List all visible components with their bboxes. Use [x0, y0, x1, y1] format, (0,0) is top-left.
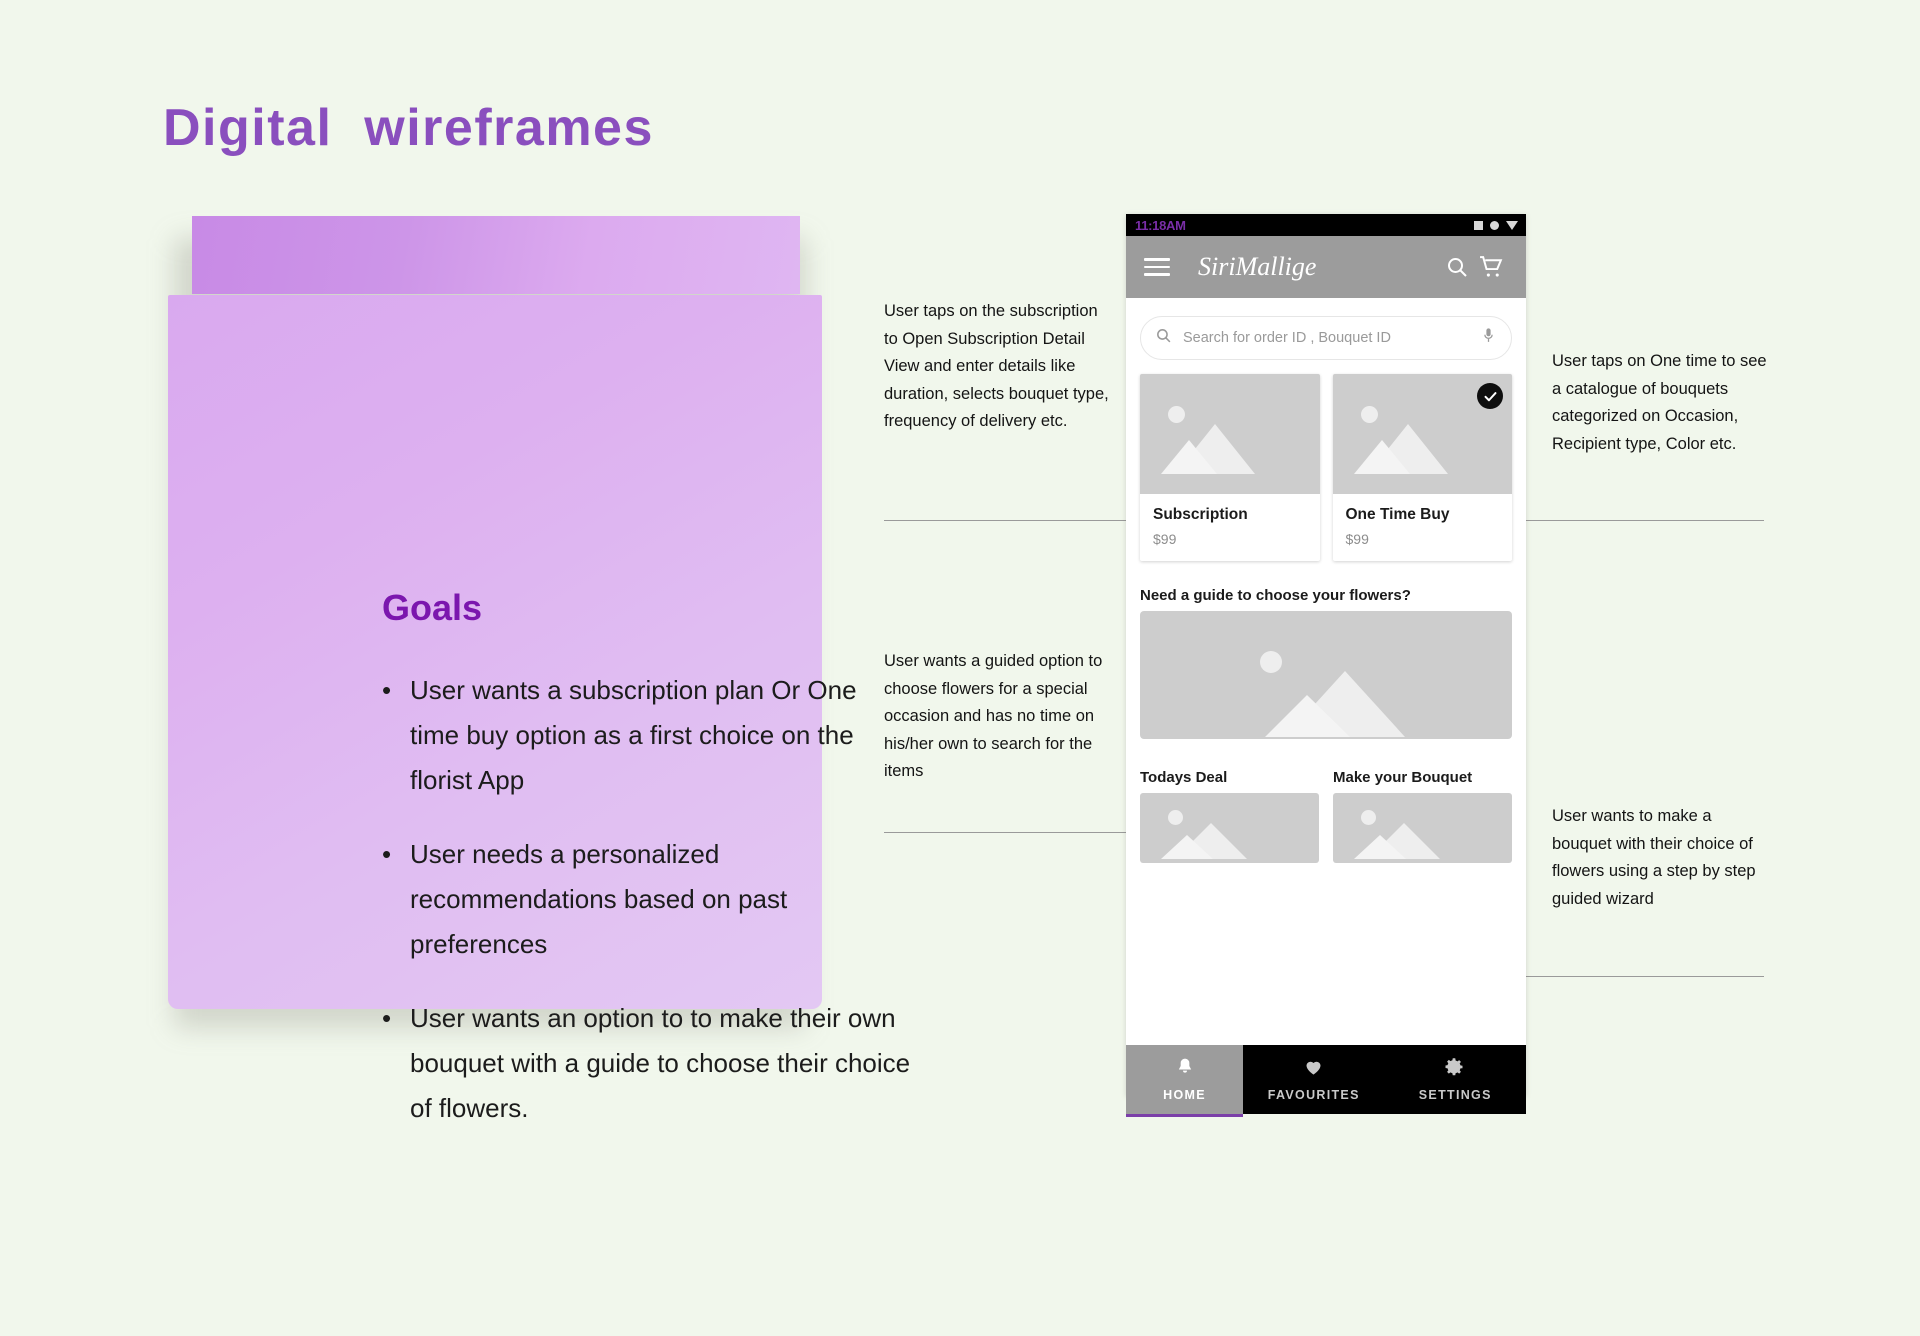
section-title: Make your Bouquet	[1333, 769, 1512, 786]
section-title: Todays Deal	[1140, 769, 1319, 786]
annotation-guided-option-note: User wants a guided option to choose flo…	[884, 648, 1110, 786]
leader-line-subscription	[884, 520, 1084, 521]
bullet-icon: •	[382, 668, 410, 713]
section-todays-deal[interactable]: Todays Deal	[1140, 769, 1319, 863]
bullet-icon: •	[382, 832, 410, 877]
image-placeholder-icon	[1140, 611, 1512, 739]
goals-heading: Goals	[382, 587, 482, 629]
list-item-label: User wants a subscription plan Or One ti…	[410, 668, 912, 803]
list-item-label: User wants an option to to make their ow…	[410, 996, 912, 1131]
hamburger-icon[interactable]	[1144, 258, 1170, 276]
product-meta: One Time Buy $99	[1333, 494, 1513, 561]
status-bar-clock: 11:18AM	[1135, 218, 1186, 233]
bottom-sections: Todays Deal Make your Bouquet	[1140, 769, 1512, 863]
app-screen: Search for order ID , Bouquet ID	[1126, 316, 1526, 1114]
triangle-down-icon	[1506, 221, 1518, 230]
slide-canvas: Digital wireframes Goals • User wants a …	[0, 0, 1920, 1336]
circle-icon	[1490, 221, 1499, 230]
annotation-make-bouquet-note: User wants to make a bouquet with their …	[1552, 803, 1770, 913]
active-tab-indicator	[1126, 1114, 1243, 1117]
selected-check-icon	[1477, 383, 1503, 409]
search-placeholder: Search for order ID , Bouquet ID	[1183, 330, 1480, 346]
bell-icon	[1175, 1057, 1195, 1082]
product-thumbnail	[1140, 374, 1320, 494]
product-name: Subscription	[1153, 506, 1307, 524]
product-card-subscription[interactable]: Subscription $99	[1140, 374, 1320, 561]
search-input[interactable]: Search for order ID , Bouquet ID	[1140, 316, 1512, 360]
app-bar: SiriMallige	[1126, 236, 1526, 298]
section-thumbnail	[1333, 793, 1512, 863]
nav-item-label: SETTINGS	[1419, 1088, 1492, 1102]
nav-item-favourites[interactable]: FAVOURITES	[1243, 1045, 1385, 1114]
product-card-one-time-buy[interactable]: One Time Buy $99	[1333, 374, 1513, 561]
section-thumbnail	[1140, 793, 1319, 863]
product-price: $99	[1153, 531, 1307, 547]
product-name: One Time Buy	[1346, 506, 1500, 524]
nav-item-label: HOME	[1163, 1088, 1206, 1102]
search-icon[interactable]	[1440, 250, 1474, 284]
square-icon	[1474, 221, 1483, 230]
annotation-subscription-note: User taps on the subscription to Open Su…	[884, 298, 1116, 436]
image-placeholder-icon	[1333, 793, 1512, 863]
annotation-one-time-note: User taps on One time to see a catalogue…	[1552, 348, 1772, 458]
nav-item-label: FAVOURITES	[1268, 1088, 1360, 1102]
product-thumbnail	[1333, 374, 1513, 494]
image-placeholder-icon	[1140, 374, 1320, 494]
status-bar: 11:18AM	[1126, 214, 1526, 236]
search-icon	[1155, 327, 1172, 349]
card-top-flap	[192, 216, 800, 294]
product-cards: Subscription $99	[1140, 374, 1512, 561]
list-item: • User needs a personalized recommendati…	[382, 832, 912, 967]
status-bar-icons	[1474, 214, 1518, 236]
product-price: $99	[1346, 531, 1500, 547]
section-make-your-bouquet[interactable]: Make your Bouquet	[1333, 769, 1512, 863]
guide-section-title: Need a guide to choose your flowers?	[1140, 587, 1512, 604]
product-meta: Subscription $99	[1140, 494, 1320, 561]
nav-item-home[interactable]: HOME	[1126, 1045, 1243, 1114]
image-placeholder-icon	[1140, 793, 1319, 863]
guide-banner[interactable]	[1140, 611, 1512, 739]
bottom-navigation: HOME FAVOURITES	[1126, 1045, 1526, 1114]
list-item: • User wants a subscription plan Or One …	[382, 668, 912, 803]
nav-item-settings[interactable]: SETTINGS	[1385, 1045, 1527, 1114]
list-item-label: User needs a personalized recommendation…	[410, 832, 912, 967]
leader-line-make-bouquet	[1492, 976, 1764, 977]
page-title: Digital wireframes	[163, 98, 654, 158]
gear-icon	[1445, 1057, 1465, 1082]
goals-card: Goals • User wants a subscription plan O…	[168, 216, 804, 1026]
guide-section: Need a guide to choose your flowers?	[1140, 587, 1512, 739]
heart-icon	[1303, 1057, 1324, 1082]
app-title: SiriMallige	[1198, 252, 1316, 282]
goals-list: • User wants a subscription plan Or One …	[382, 668, 912, 1160]
phone-mockup: 11:18AM SiriMallige	[1126, 214, 1526, 1096]
cart-icon[interactable]	[1474, 250, 1508, 284]
list-item: • User wants an option to to make their …	[382, 996, 912, 1131]
microphone-icon[interactable]	[1480, 326, 1497, 350]
bullet-icon: •	[382, 996, 410, 1041]
